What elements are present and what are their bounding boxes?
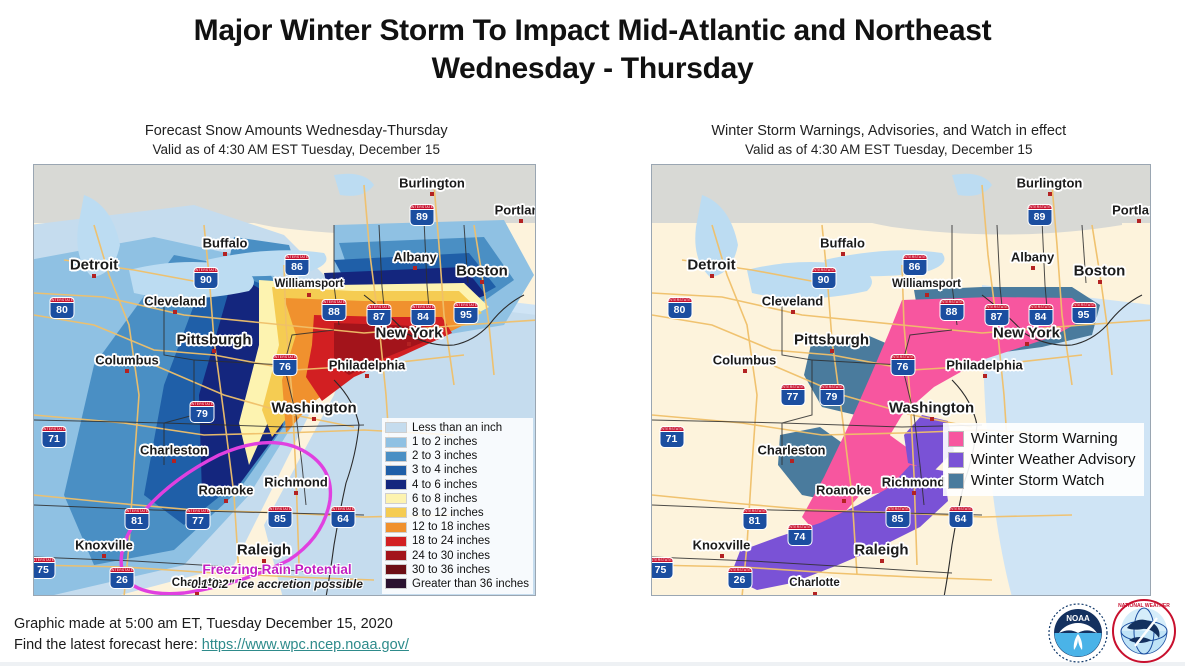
city-dot: [1137, 219, 1141, 223]
warnings-panel: Winter Storm Warnings, Advisories, and W…: [593, 122, 1185, 604]
snow-legend-label: Less than an inch: [412, 422, 502, 434]
snow-legend-label: 6 to 8 inches: [412, 493, 477, 505]
interstate-shield-icon: INTERSTATE74: [787, 524, 812, 546]
shield-number: 95: [454, 307, 479, 324]
snow-legend-row: Greater than 36 inches: [385, 577, 529, 591]
shield-number: 88: [322, 304, 347, 321]
interstate-shield-icon: INTERSTATE71: [659, 426, 684, 448]
snow-legend-label: 12 to 18 inches: [412, 521, 490, 533]
city-dot: [294, 491, 298, 495]
shield-number: 85: [885, 511, 910, 528]
warning-legend-label: Winter Storm Watch: [971, 472, 1105, 489]
city-dot: [791, 310, 795, 314]
city-dot: [312, 417, 316, 421]
shield-number: 64: [948, 511, 973, 528]
interstate-shield-icon: INTERSTATE84: [411, 304, 436, 326]
city-dot: [710, 274, 714, 278]
snow-legend-swatch: [385, 479, 407, 490]
shield-number: 89: [410, 209, 435, 226]
snow-panel-heading: Forecast Snow Amounts Wednesday-Thursday…: [0, 122, 593, 159]
interstate-shield-icon: INTERSTATE75: [33, 557, 56, 579]
snow-legend-row: 24 to 30 inches: [385, 548, 529, 562]
interstate-shield-icon: INTERSTATE64: [331, 506, 356, 528]
snow-legend-row: 8 to 12 inches: [385, 506, 529, 520]
city-dot: [413, 266, 417, 270]
shield-number: 80: [667, 302, 692, 319]
interstate-shield-icon: INTERSTATE64: [948, 506, 973, 528]
city-dot: [195, 592, 199, 596]
snow-legend-row: 12 to 18 inches: [385, 520, 529, 534]
footer-line-2: Find the latest forecast here: https://w…: [14, 635, 409, 656]
footer-divider: [0, 662, 1185, 666]
snow-legend-swatch: [385, 437, 407, 448]
interstate-shield-icon: INTERSTATE76: [890, 354, 915, 376]
interstate-shield-icon: INTERSTATE90: [811, 267, 836, 289]
interstate-shield-icon: INTERSTATE26: [727, 567, 752, 589]
warning-legend-row: Winter Weather Advisory: [948, 449, 1136, 470]
snow-legend-row: 30 to 36 inches: [385, 563, 529, 577]
city-dot: [1098, 280, 1102, 284]
snow-legend-label: 4 to 6 inches: [412, 479, 477, 491]
snow-legend-swatch: [385, 536, 407, 547]
city-dot: [172, 459, 176, 463]
shield-number: 86: [902, 259, 927, 276]
city-dot: [480, 280, 484, 284]
interstate-shield-icon: INTERSTATE76: [273, 354, 298, 376]
interstate-shield-icon: INTERSTATE84: [1028, 304, 1053, 326]
shield-number: 90: [194, 272, 219, 289]
city-dot: [830, 349, 834, 353]
footer-text: Graphic made at 5:00 am ET, Tuesday Dece…: [14, 614, 409, 656]
snow-panel-title: Forecast Snow Amounts Wednesday-Thursday: [0, 122, 593, 141]
interstate-shield-icon: INTERSTATE87: [367, 304, 392, 326]
snow-map[interactable]: DetroitBuffaloClevelandPittsburghColumbu…: [33, 164, 536, 596]
freezing-rain-callout: Freezing Rain Potential 0.1-0.2" ice acc…: [162, 562, 392, 591]
snow-legend-label: 3 to 4 inches: [412, 464, 477, 476]
interstate-shield-icon: INTERSTATE95: [1071, 302, 1096, 324]
city-dot: [1031, 266, 1035, 270]
warning-legend-row: Winter Storm Warning: [948, 428, 1136, 449]
shield-number: 88: [939, 304, 964, 321]
city-dot: [743, 369, 747, 373]
city-dot: [880, 559, 884, 563]
snow-legend-label: 30 to 36 inches: [412, 564, 490, 576]
title-line-2: Wednesday - Thursday: [60, 50, 1125, 88]
snow-legend-swatch: [385, 522, 407, 533]
snow-legend-swatch: [385, 422, 407, 433]
city-dot: [407, 342, 411, 346]
shield-number: 79: [190, 406, 215, 423]
snow-legend-swatch: [385, 493, 407, 504]
city-dot: [790, 459, 794, 463]
shield-number: 86: [285, 259, 310, 276]
city-dot: [125, 369, 129, 373]
shield-number: 79: [819, 389, 844, 406]
shield-number: 76: [890, 359, 915, 376]
shield-number: 95: [1071, 307, 1096, 324]
snow-legend-swatch: [385, 451, 407, 462]
interstate-shield-icon: INTERSTATE81: [125, 508, 150, 530]
interstate-shield-icon: INTERSTATE77: [780, 384, 805, 406]
snow-legend-label: Greater than 36 inches: [412, 578, 529, 590]
snow-panel-subtitle: Valid as of 4:30 AM EST Tuesday, Decembe…: [0, 141, 593, 159]
city-dot: [983, 374, 987, 378]
snow-legend-row: 3 to 4 inches: [385, 463, 529, 477]
warning-legend-swatch: [948, 452, 964, 468]
city-dot: [1025, 342, 1029, 346]
interstate-shield-icon: INTERSTATE81: [742, 508, 767, 530]
warning-legend-row: Winter Storm Watch: [948, 470, 1136, 491]
shield-number: 75: [33, 562, 56, 579]
shield-number: 26: [110, 572, 135, 589]
snow-legend-label: 1 to 2 inches: [412, 436, 477, 448]
warning-legend-label: Winter Weather Advisory: [971, 451, 1136, 468]
city-dot: [841, 252, 845, 256]
freezing-rain-detail: 0.1-0.2" ice accretion possible: [162, 577, 392, 591]
interstate-shield-icon: INTERSTATE79: [819, 384, 844, 406]
shield-number: 71: [659, 431, 684, 448]
city-dot: [813, 592, 817, 596]
snow-legend-swatch: [385, 564, 407, 575]
snow-legend-label: 2 to 3 inches: [412, 450, 477, 462]
warnings-panel-title: Winter Storm Warnings, Advisories, and W…: [593, 122, 1185, 141]
city-dot: [430, 192, 434, 196]
noaa-logo: NOAA: [1047, 602, 1109, 664]
warning-legend-label: Winter Storm Warning: [971, 430, 1118, 447]
city-dot: [912, 491, 916, 495]
shield-number: 90: [811, 272, 836, 289]
snow-legend-row: 1 to 2 inches: [385, 435, 529, 449]
interstate-shield-icon: INTERSTATE80: [50, 297, 75, 319]
snow-legend-label: 18 to 24 inches: [412, 535, 490, 547]
snow-legend-row: 2 to 3 inches: [385, 449, 529, 463]
warnings-panel-heading: Winter Storm Warnings, Advisories, and W…: [593, 122, 1185, 159]
snow-legend-row: 18 to 24 inches: [385, 534, 529, 548]
snow-legend-swatch: [385, 550, 407, 561]
warning-legend-swatch: [948, 431, 964, 447]
footer-link-prefix: Find the latest forecast here:: [14, 637, 202, 653]
city-dot: [224, 499, 228, 503]
snow-legend-swatch: [385, 578, 407, 589]
interstate-shield-icon: INTERSTATE80: [667, 297, 692, 319]
interstate-shield-icon: INTERSTATE26: [110, 567, 135, 589]
interstate-shield-icon: INTERSTATE88: [939, 299, 964, 321]
city-dot: [930, 417, 934, 421]
maps-container: Forecast Snow Amounts Wednesday-Thursday…: [0, 122, 1185, 604]
warnings-map[interactable]: DetroitBuffaloClevelandPittsburghColumbu…: [651, 164, 1151, 596]
interstate-shield-icon: INTERSTATE89: [410, 204, 435, 226]
title-line-1: Major Winter Storm To Impact Mid-Atlanti…: [60, 12, 1125, 50]
city-dot: [925, 293, 929, 297]
snow-legend-row: 6 to 8 inches: [385, 492, 529, 506]
city-dot: [1048, 192, 1052, 196]
city-dot: [102, 554, 106, 558]
interstate-shield-icon: INTERSTATE89: [1027, 204, 1052, 226]
shield-number: 81: [742, 513, 767, 530]
shield-number: 74: [787, 529, 812, 546]
shield-number: 64: [331, 511, 356, 528]
interstate-shield-icon: INTERSTATE79: [190, 401, 215, 423]
wpc-forecast-link[interactable]: https://www.wpc.ncep.noaa.gov/: [202, 637, 409, 653]
shield-number: 84: [411, 309, 436, 326]
interstate-shield-icon: INTERSTATE95: [454, 302, 479, 324]
warnings-panel-subtitle: Valid as of 4:30 AM EST Tuesday, Decembe…: [593, 141, 1185, 159]
interstate-shield-icon: INTERSTATE71: [42, 426, 67, 448]
interstate-shield-icon: INTERSTATE85: [885, 506, 910, 528]
interstate-shield-icon: INTERSTATE77: [186, 508, 211, 530]
warning-type-legend: Winter Storm WarningWinter Weather Advis…: [943, 423, 1144, 496]
snow-amount-legend: Less than an inch1 to 2 inches2 to 3 inc…: [382, 418, 533, 594]
freezing-rain-title: Freezing Rain Potential: [162, 562, 392, 577]
interstate-shield-icon: INTERSTATE86: [285, 254, 310, 276]
interstate-shield-icon: INTERSTATE90: [194, 267, 219, 289]
shield-number: 87: [984, 309, 1009, 326]
shield-number: 87: [367, 309, 392, 326]
city-dot: [519, 219, 523, 223]
snow-legend-row: Less than an inch: [385, 421, 529, 435]
snow-legend-label: 8 to 12 inches: [412, 507, 484, 519]
city-dot: [173, 310, 177, 314]
interstate-shield-icon: INTERSTATE86: [902, 254, 927, 276]
page-title: Major Winter Storm To Impact Mid-Atlanti…: [0, 0, 1185, 91]
shield-number: 77: [780, 389, 805, 406]
interstate-shield-icon: INTERSTATE88: [322, 299, 347, 321]
snow-legend-label: 24 to 30 inches: [412, 550, 490, 562]
shield-number: 81: [125, 513, 150, 530]
snow-legend-swatch: [385, 465, 407, 476]
shield-number: 77: [186, 513, 211, 530]
footer-line-1: Graphic made at 5:00 am ET, Tuesday Dece…: [14, 614, 409, 635]
shield-number: 85: [268, 511, 293, 528]
shield-number: 80: [50, 302, 75, 319]
snow-forecast-panel: Forecast Snow Amounts Wednesday-Thursday…: [0, 122, 593, 604]
city-dot: [307, 293, 311, 297]
snow-legend-row: 4 to 6 inches: [385, 478, 529, 492]
shield-number: 71: [42, 431, 67, 448]
agency-logos: NOAA NATIONAL WEATHER: [1047, 598, 1177, 664]
nws-logo-text: NATIONAL WEATHER: [1118, 603, 1170, 609]
city-dot: [212, 349, 216, 353]
shield-number: 76: [273, 359, 298, 376]
snow-legend-swatch: [385, 507, 407, 518]
city-dot: [720, 554, 724, 558]
city-dot: [223, 252, 227, 256]
city-dot: [365, 374, 369, 378]
interstate-shield-icon: INTERSTATE85: [268, 506, 293, 528]
city-dot: [92, 274, 96, 278]
nws-logo: NATIONAL WEATHER: [1111, 598, 1177, 664]
interstate-shield-icon: INTERSTATE75: [651, 557, 674, 579]
shield-number: 84: [1028, 309, 1053, 326]
warning-legend-swatch: [948, 473, 964, 489]
interstate-shield-icon: INTERSTATE87: [984, 304, 1009, 326]
city-dot: [842, 499, 846, 503]
shield-number: 26: [727, 572, 752, 589]
shield-number: 89: [1027, 209, 1052, 226]
noaa-logo-text: NOAA: [1066, 614, 1090, 623]
shield-number: 75: [651, 562, 674, 579]
